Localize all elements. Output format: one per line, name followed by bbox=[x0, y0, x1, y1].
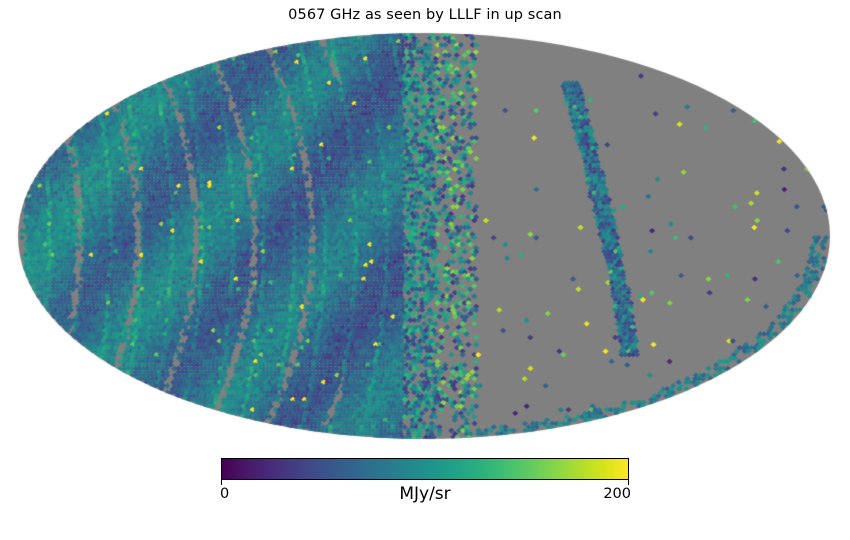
colorbar: 0 MJy/sr 200 bbox=[221, 458, 629, 504]
skymap-canvas bbox=[0, 30, 850, 442]
page-title: 0567 GHz as seen by LLLF in up scan bbox=[0, 7, 850, 23]
colorbar-gradient bbox=[221, 458, 629, 480]
figure-root: 0567 GHz as seen by LLLF in up scan 0 MJ… bbox=[0, 0, 850, 540]
colorbar-unit-label: MJy/sr bbox=[221, 484, 629, 504]
skymap-panel bbox=[0, 30, 850, 442]
colorbar-max-label: 200 bbox=[603, 486, 631, 502]
